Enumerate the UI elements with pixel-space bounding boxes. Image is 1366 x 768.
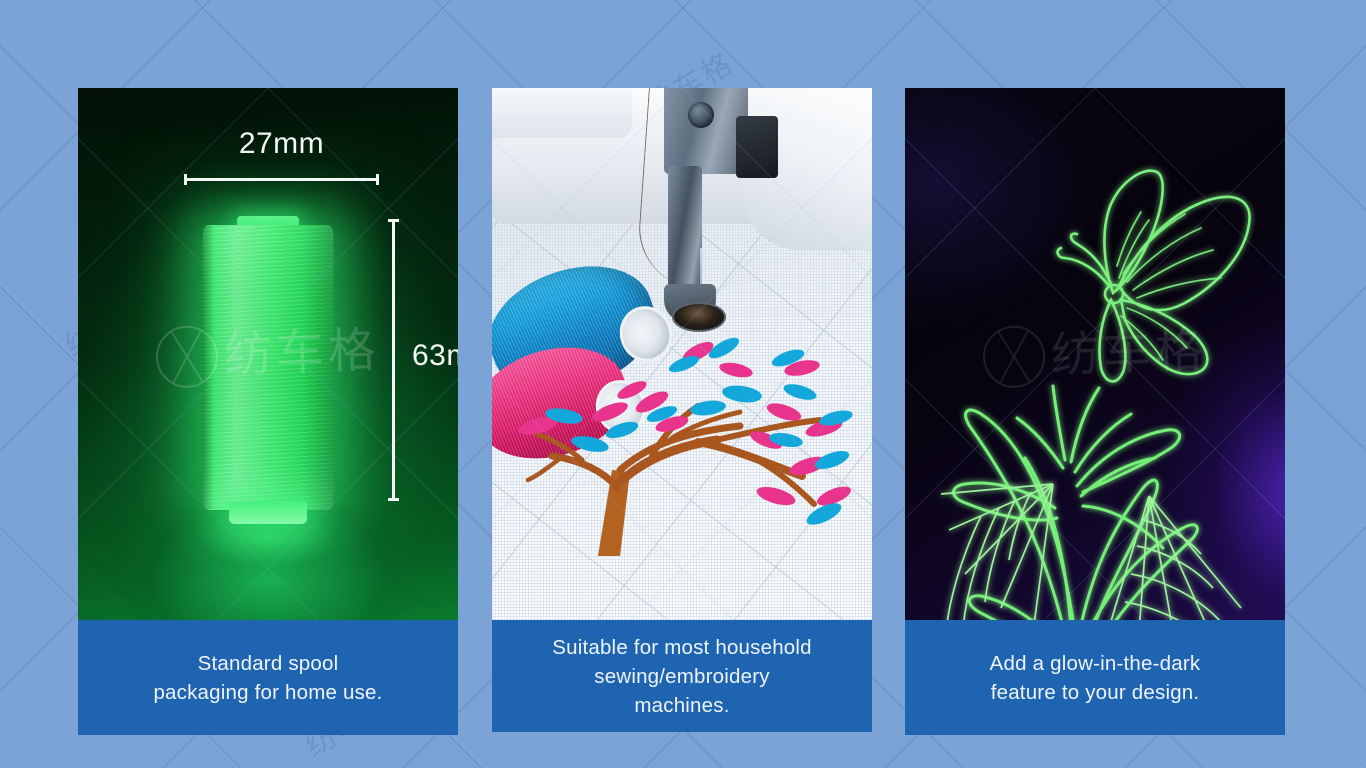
height-dimension-label: 63mm — [412, 339, 458, 373]
needle-shank — [668, 166, 702, 291]
plant-shape — [953, 386, 1197, 620]
height-dimension-top-cap — [388, 219, 399, 222]
height-dimension-bottom-cap — [388, 498, 399, 501]
caption-line: packaging for home use. — [153, 678, 382, 707]
sewing-machine-photo — [492, 88, 872, 620]
width-dimension: 27mm — [184, 127, 379, 185]
sewing-machine-panel[interactable]: Suitable for most household sewing/embro… — [492, 88, 872, 732]
caption-line: feature to your design. — [990, 678, 1201, 707]
embroidered-tree-design — [502, 320, 862, 612]
glow-design-panel[interactable]: 纺车格 Add a glow-in-the-dark feature to yo… — [905, 88, 1285, 735]
spool-floor-glow — [143, 512, 393, 620]
width-dimension-right-cap — [376, 174, 379, 185]
spool-bottom-cap — [229, 502, 307, 524]
glow-design-photo: 纺车格 — [905, 88, 1285, 620]
spool-photo: 27mm 63mm 纺车格 — [78, 88, 458, 620]
caption-line: Suitable for most household — [552, 633, 812, 662]
thread-guide-wire — [635, 88, 769, 292]
machine-left-arm — [492, 88, 632, 138]
height-dimension-line — [388, 219, 399, 501]
panel-3-caption: Add a glow-in-the-dark feature to your d… — [905, 620, 1285, 735]
spool-thread-body — [203, 225, 334, 510]
spider-web-right — [1101, 496, 1241, 620]
caption-line: Add a glow-in-the-dark — [990, 649, 1201, 678]
spool-dimensions-panel[interactable]: 27mm 63mm 纺车格 Standard spool — [78, 88, 458, 735]
caption-line: Standard spool — [153, 649, 382, 678]
caption-line: machines. — [552, 691, 812, 720]
glow-embroidery-art — [905, 88, 1285, 620]
panel-1-caption: Standard spool packaging for home use. — [78, 620, 458, 735]
sewing-scene-background — [492, 88, 872, 620]
caption-line: sewing/embroidery — [552, 662, 812, 691]
width-dimension-left-cap — [184, 174, 187, 185]
panel-2-caption: Suitable for most household sewing/embro… — [492, 620, 872, 732]
width-dimension-label: 27mm — [184, 127, 379, 161]
width-dimension-line — [184, 174, 379, 185]
butterfly-shape — [1058, 171, 1250, 382]
